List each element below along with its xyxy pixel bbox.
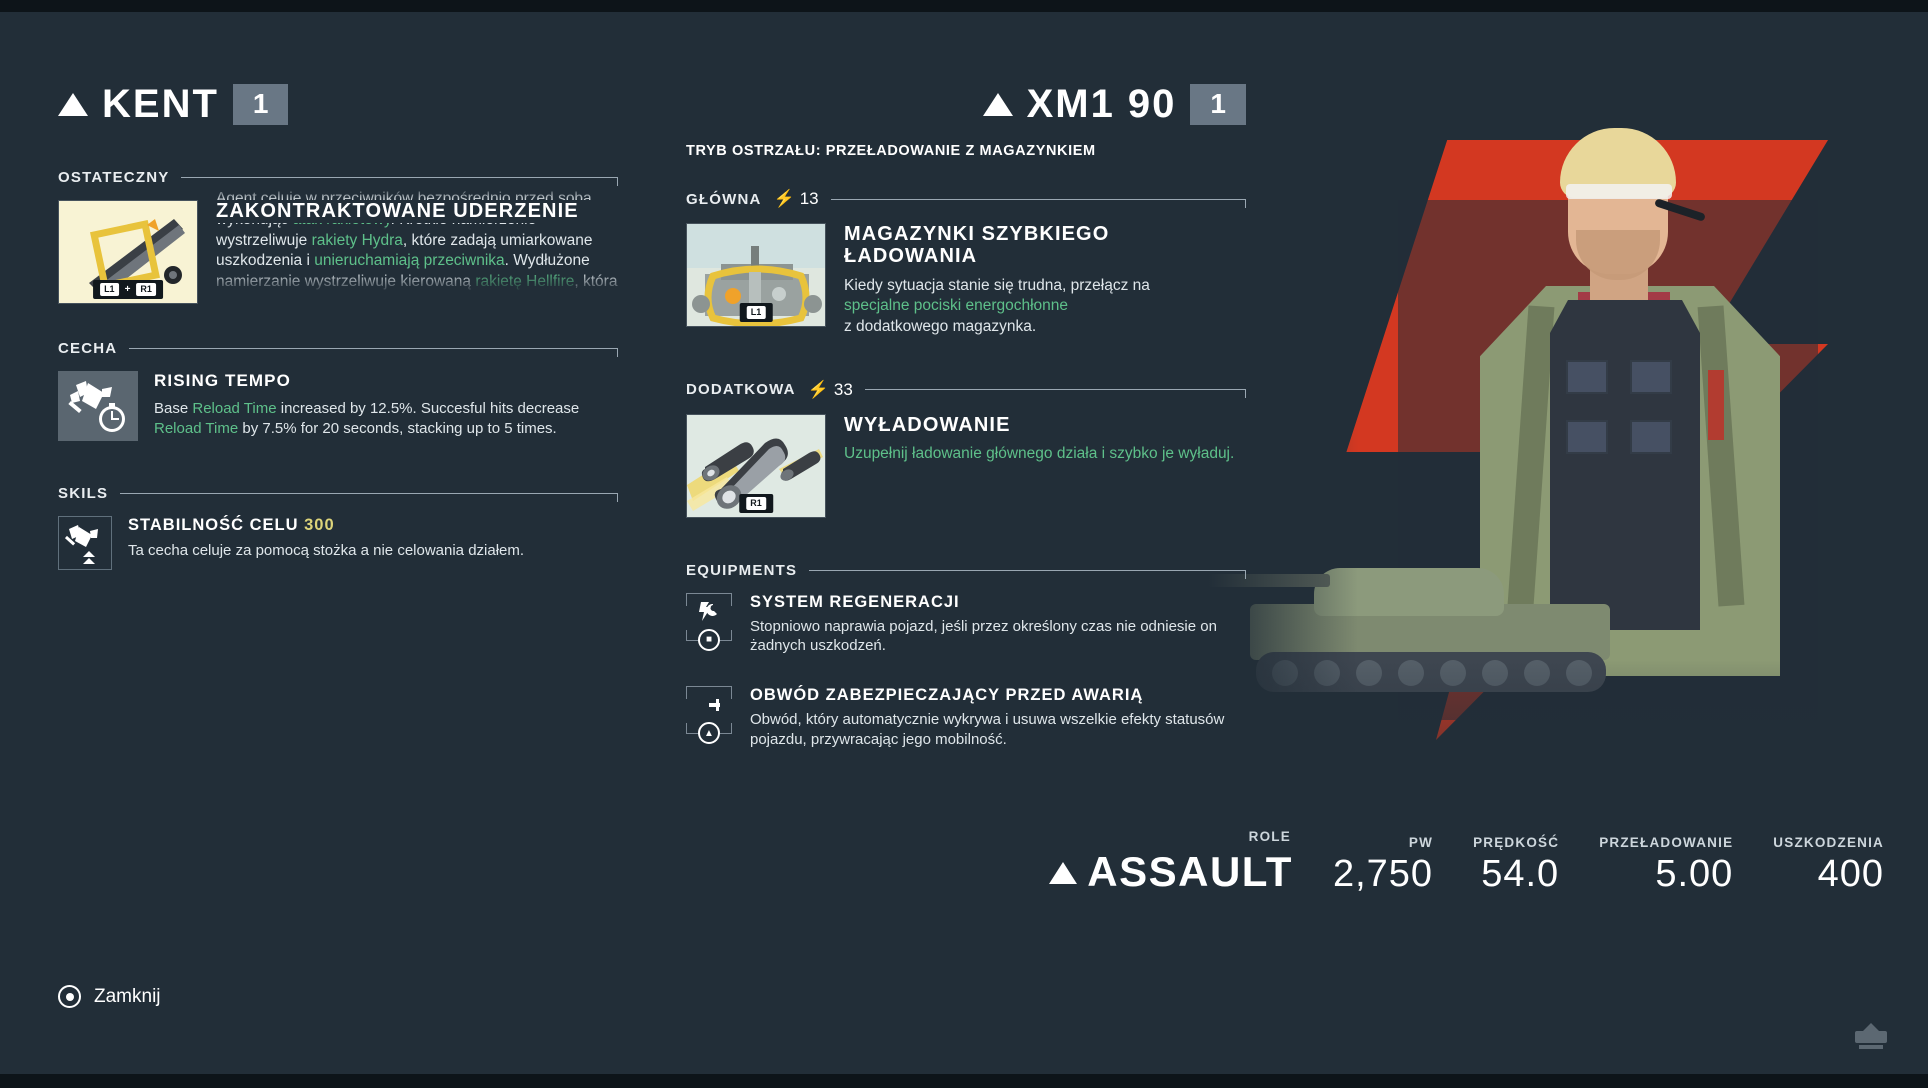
role-triangle-icon	[1049, 862, 1077, 884]
jacket-red-trim	[1708, 370, 1724, 440]
stat-pw: PW 2,750	[1333, 835, 1433, 892]
agent-title-row: KENT 1	[58, 82, 618, 127]
agent-column: KENT 1 OSTATECZNY	[58, 82, 618, 570]
primary-desc-line2: specjalne pociski energochłonne	[844, 296, 1246, 317]
letterbox-bottom	[0, 1074, 1928, 1088]
equipment-button-icon[interactable]: ▲	[698, 722, 720, 744]
trait-text: RISING TEMPO Base Reload Time increased …	[154, 371, 618, 441]
equipment-description: Stopniowo naprawia pojazd, jeśli przez o…	[750, 617, 1246, 657]
secondary-text: WYŁADOWANIE Uzupełnij ładowanie głównego…	[844, 414, 1246, 518]
ultimate-section: OSTATECZNY L1 +	[58, 169, 618, 304]
equipments-section-header: EQUIPMENTS	[686, 562, 1246, 579]
stat-speed: PRĘDKOŚĆ 54.0	[1473, 835, 1559, 892]
stat-label: PW	[1333, 835, 1433, 850]
stat-value: 54.0	[1473, 856, 1559, 892]
ult-desc-l5a: unieruchamiają przeciwnika	[314, 252, 504, 269]
ultimate-section-header: OSTATECZNY	[58, 169, 618, 186]
ult-desc-l7c: śmiertelne uszkodzenia	[266, 293, 428, 297]
trait-desc-e: by 7.5% for 20 seconds, stacking up to 5…	[238, 420, 557, 437]
stat-value: 2,750	[1333, 856, 1433, 892]
primary-title: MAGAZYNKI SZYBKIEGO ŁADOWANIA	[844, 223, 1246, 268]
weapon-name: XM1 90	[1027, 82, 1177, 127]
secondary-cost: ⚡ 33	[808, 380, 853, 400]
ultimate-title-wrap: ZAKONTRAKTOWANE UDERZENIE	[216, 200, 618, 223]
trait-section-header: CECHA	[58, 340, 618, 357]
circle-dot-icon	[58, 985, 81, 1008]
secondary-ability-section: DODATKOWA ⚡ 33	[686, 380, 1246, 518]
primary-cost: ⚡ 13	[774, 189, 819, 209]
secondary-section-header: DODATKOWA ⚡ 33	[686, 380, 1246, 400]
stats-bar: ROLE ASSAULT PW 2,750 PRĘDKOŚĆ 54.0 PRZE…	[1049, 829, 1884, 892]
agent-name: KENT	[102, 82, 219, 127]
vest-pouch	[1566, 360, 1608, 394]
primary-desc-line1: Kiedy sytuacja stanie się trudna, przełą…	[844, 276, 1246, 297]
skills-section-header: SKILS	[58, 485, 618, 502]
studio-watermark-icon	[1850, 1016, 1892, 1058]
ult-desc-l6a: namierzanie wystrzeliwuje kierowaną	[216, 273, 475, 290]
keybind-r1: R1	[136, 283, 156, 296]
equipment-button-icon[interactable]: ■	[698, 629, 720, 651]
trait-section: CECHA	[58, 340, 618, 441]
ultimate-text: ZAKONTRAKTOWANE UDERZENIE Agent celuje w…	[216, 200, 618, 304]
vest-pouch	[1566, 420, 1608, 454]
agent-glasses-icon	[1566, 184, 1672, 199]
weapon-title-row: XM1 90 1	[686, 82, 1246, 127]
missiles-icon: R1	[686, 414, 826, 518]
stat-value: 400	[1773, 856, 1884, 892]
agent-rank-triangle-icon	[58, 93, 88, 116]
keybind-l1: L1	[747, 306, 766, 319]
primary-cost-value: 13	[800, 189, 819, 209]
skills-section: SKILS	[58, 485, 618, 570]
primary-ability-section: GŁÓWNA ⚡ 13	[686, 189, 1246, 338]
tank-front-icon: L1	[686, 223, 826, 327]
stat-value: 5.00	[1599, 856, 1733, 892]
trait-ability[interactable]: RISING TEMPO Base Reload Time increased …	[58, 371, 618, 441]
rocket-launcher-icon: L1 + R1	[58, 200, 198, 304]
trait-desc-a: Base	[154, 400, 192, 417]
primary-text: MAGAZYNKI SZYBKIEGO ŁADOWANIA Kiedy sytu…	[844, 223, 1246, 338]
primary-section-label: GŁÓWNA	[686, 191, 762, 208]
ultimate-keybind: L1 + R1	[93, 280, 163, 299]
ult-desc-l7b: , która zadaje	[216, 273, 617, 298]
section-divider	[831, 199, 1246, 200]
circuit-glyph	[686, 688, 732, 722]
section-divider	[809, 570, 1246, 571]
role-block: ROLE ASSAULT	[1049, 829, 1293, 892]
trait-desc-b: Reload Time	[192, 400, 276, 417]
energy-bolt-icon: ⚡	[808, 380, 829, 400]
hero-artwork	[1208, 0, 1928, 880]
ult-desc-l6b: rakietę	[475, 273, 522, 290]
wrench-glyph	[686, 595, 732, 629]
equipment-title: OBWÓD ZABEZPIECZAJĄCY PRZED AWARIĄ	[750, 686, 1246, 705]
section-divider	[120, 493, 618, 494]
agent-level-badge: 1	[233, 84, 289, 125]
equipment-title: SYSTEM REGENERACJI	[750, 593, 1246, 612]
trait-desc-d: Reload Time	[154, 420, 238, 437]
ult-desc-l5b: . Wydłużone	[505, 252, 590, 269]
skill-text: STABILNOŚĆ CELU 300 Ta cecha celuje za p…	[128, 516, 524, 561]
rockets-stopwatch-icon	[58, 371, 138, 441]
keybind-r1: R1	[746, 497, 766, 510]
close-label: Zamknij	[94, 986, 161, 1008]
primary-ability[interactable]: L1 MAGAZYNKI SZYBKIEGO ŁADOWANIA Kiedy s…	[686, 223, 1246, 338]
primary-keybind: L1	[740, 303, 773, 322]
secondary-cost-value: 33	[834, 380, 853, 400]
stat-label: PRZEŁADOWANIE	[1599, 835, 1733, 850]
keybind-l1: L1	[100, 283, 119, 296]
keybind-plus: +	[125, 284, 131, 295]
stat-label: USZKODZENIA	[1773, 835, 1884, 850]
skill-description: Ta cecha celuje za pomocą stożka a nie c…	[128, 541, 524, 561]
stat-label: PRĘDKOŚĆ	[1473, 835, 1559, 850]
skill-title: STABILNOŚĆ CELU	[128, 516, 299, 534]
equipment-text: SYSTEM REGENERACJI Stopniowo naprawia po…	[750, 593, 1246, 657]
stat-damage: USZKODZENIA 400	[1773, 835, 1884, 892]
role-value: ASSAULT	[1087, 852, 1293, 892]
secondary-ability[interactable]: R1 WYŁADOWANIE Uzupełnij ładowanie główn…	[686, 414, 1246, 518]
weapon-fire-mode: TRYB OSTRZAŁU: PRZEŁADOWANIE Z MAGAZYNKI…	[686, 143, 1246, 159]
energy-bolt-icon: ⚡	[774, 189, 795, 209]
secondary-description: Uzupełnij ładowanie głównego działa i sz…	[844, 444, 1246, 465]
rockets-up-icon	[58, 516, 112, 570]
secondary-section-label: DODATKOWA	[686, 381, 796, 398]
equipment-text: OBWÓD ZABEZPIECZAJĄCY PRZED AWARIĄ Obwód…	[750, 686, 1246, 750]
secondary-keybind: R1	[739, 494, 773, 513]
character-loadout-screen: KENT 1 OSTATECZNY	[0, 0, 1928, 1088]
skill-value: 300	[304, 516, 335, 534]
trait-title: RISING TEMPO	[154, 371, 618, 391]
ultimate-title: ZAKONTRAKTOWANE UDERZENIE	[216, 200, 618, 222]
trait-desc-c: increased by 12.5%. Succesful hits decre…	[277, 400, 580, 417]
equipment-item[interactable]: ▲ OBWÓD ZABEZPIECZAJĄCY PRZED AWARIĄ Obw…	[686, 686, 1246, 750]
vest-pouch	[1630, 420, 1672, 454]
skills-section-label: SKILS	[58, 485, 108, 502]
letterbox-top	[0, 0, 1928, 12]
ultimate-ability[interactable]: L1 + R1 ZAKONTRAKTOWANE UDERZENIE Agent …	[58, 200, 618, 304]
equipments-section: EQUIPMENTS ■ SYSTEM REGENERACJI	[686, 562, 1246, 750]
secondary-title: WYŁADOWANIE	[844, 414, 1246, 436]
ult-desc-l7a: Hellfire	[526, 273, 574, 290]
role-label: ROLE	[1249, 829, 1291, 844]
primary-desc-line3: z dodatkowego magazynka.	[844, 317, 1246, 338]
trait-section-label: CECHA	[58, 340, 117, 357]
section-divider	[181, 177, 618, 178]
equipment-item[interactable]: ■ SYSTEM REGENERACJI Stopniowo naprawia …	[686, 593, 1246, 657]
equipments-section-label: EQUIPMENTS	[686, 562, 797, 579]
skill-item[interactable]: STABILNOŚĆ CELU 300 Ta cecha celuje za p…	[58, 516, 618, 570]
stat-reload: PRZEŁADOWANIE 5.00	[1599, 835, 1733, 892]
weapon-column: XM1 90 1 TRYB OSTRZAŁU: PRZEŁADOWANIE Z …	[686, 82, 1246, 774]
ult-desc-l3b: rakiety Hydra	[312, 232, 403, 249]
ult-desc-l3c: , które	[403, 232, 446, 249]
section-divider	[129, 348, 618, 349]
weapon-rank-triangle-icon	[983, 93, 1013, 116]
trait-description: Base Reload Time increased by 12.5%. Suc…	[154, 399, 618, 439]
vest-pouch	[1630, 360, 1672, 394]
skill-title-row: STABILNOŚĆ CELU 300	[128, 516, 524, 535]
primary-section-header: GŁÓWNA ⚡ 13	[686, 189, 1246, 209]
close-button[interactable]: Zamknij	[58, 985, 161, 1008]
wrench-repair-icon: ■	[686, 593, 732, 641]
circuit-plug-icon: ▲	[686, 686, 732, 734]
ultimate-section-label: OSTATECZNY	[58, 169, 169, 186]
section-divider	[865, 389, 1246, 390]
weapon-level-badge: 1	[1190, 84, 1246, 125]
equipment-description: Obwód, który automatycznie wykrywa i usu…	[750, 710, 1246, 750]
primary-description: Kiedy sytuacja stanie się trudna, przełą…	[844, 276, 1246, 338]
